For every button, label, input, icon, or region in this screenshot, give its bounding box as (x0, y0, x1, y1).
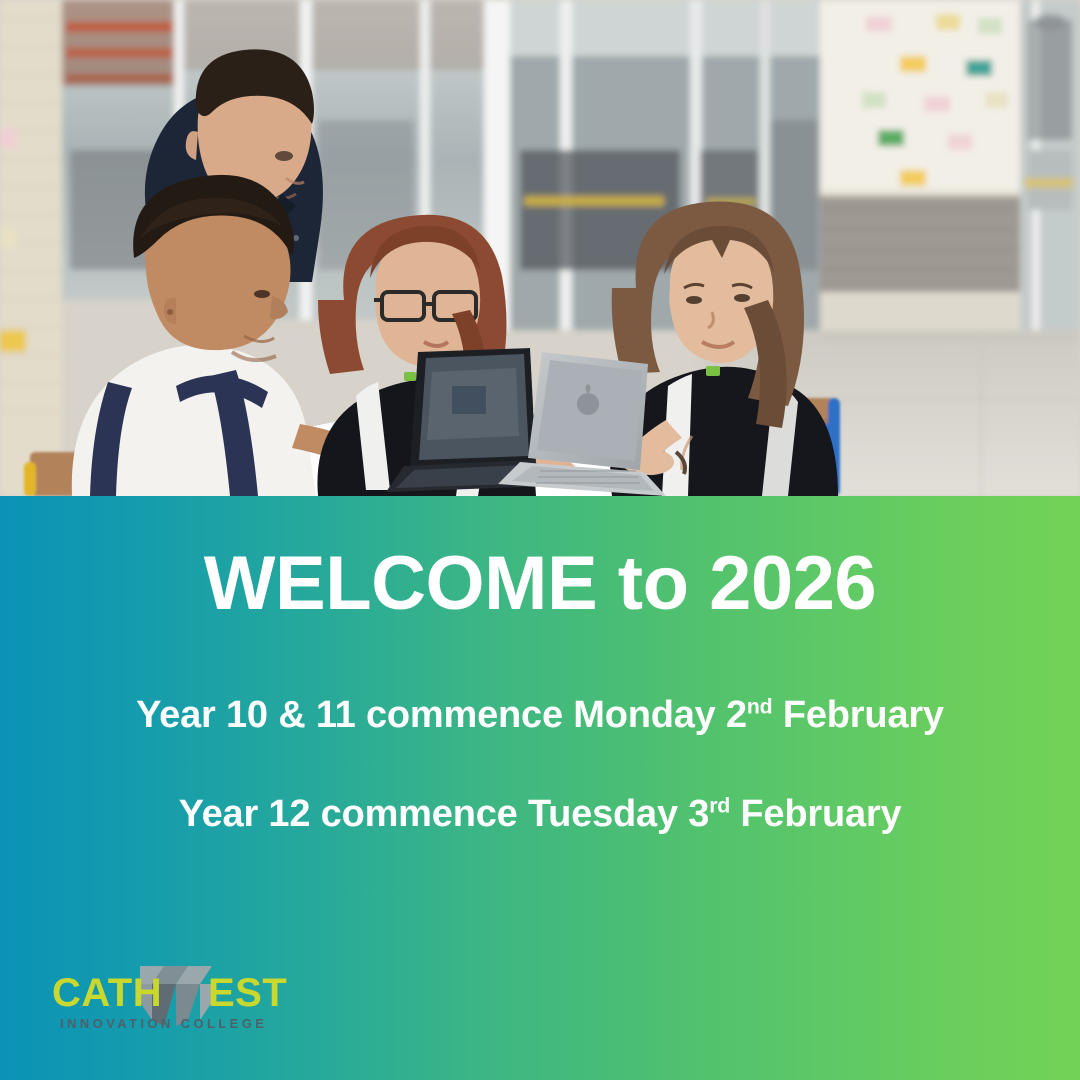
date-line-year-10-11: Year 10 & 11 commence Monday 2nd Februar… (0, 694, 1080, 737)
cathwest-logo: CATH EST INNOVATION COLLEGE (36, 958, 306, 1036)
logo-wordmark-left: CATH (52, 971, 162, 1015)
announcement-panel: WELCOME to 2026 Year 10 & 11 commence Mo… (0, 496, 1080, 1080)
date-line-prefix: Year 10 & 11 commence Monday 2 (136, 694, 747, 736)
date-line-suffix: February (772, 694, 943, 736)
date-line-suffix: February (730, 793, 901, 835)
page-title: WELCOME to 2026 (0, 544, 1080, 624)
campus-photo (0, 0, 1080, 496)
logo-wordmark-right: EST (208, 971, 287, 1015)
poster-root: WELCOME to 2026 Year 10 & 11 commence Mo… (0, 0, 1080, 1080)
date-line-year-12: Year 12 commence Tuesday 3rd February (0, 793, 1080, 836)
date-lines: Year 10 & 11 commence Monday 2nd Februar… (0, 694, 1080, 836)
date-line-prefix: Year 12 commence Tuesday 3 (179, 793, 710, 835)
logo-tagline: INNOVATION COLLEGE (60, 1016, 267, 1031)
date-line-ordinal: nd (747, 694, 773, 718)
date-line-ordinal: rd (709, 793, 730, 817)
